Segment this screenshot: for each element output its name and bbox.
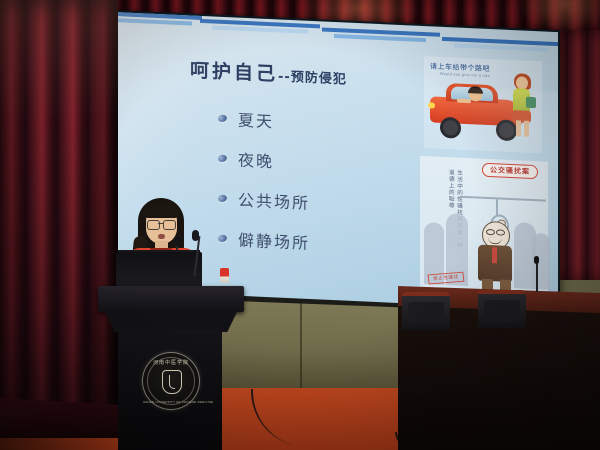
chair-cushion	[408, 302, 444, 324]
chair-cushion	[484, 300, 520, 322]
emblem-latin-text: HENAN UNIVERSITY OF CHINESE MEDICINE	[143, 400, 199, 404]
list-item: 夜晚	[218, 141, 310, 179]
bullet-dot-icon	[217, 233, 228, 242]
emblem-chinese-text: 河南中医学院	[143, 359, 199, 366]
man-tie-shape	[492, 247, 497, 263]
beverage-can[interactable]	[220, 268, 229, 283]
man-eye-right	[496, 229, 505, 235]
emblem-center-mark	[162, 370, 182, 394]
car-headlight-shape	[428, 102, 435, 108]
podium-microphone-icon	[192, 230, 199, 241]
bullet-dot-icon	[217, 193, 228, 202]
slide-bullet-list: 夏天 夜晚 公共场所 僻静场所	[218, 101, 310, 265]
illustration-car: 请上车给带个路吧 Would you give me a ride	[424, 56, 542, 153]
slide-title-main: 呵护自己	[190, 59, 278, 85]
presenter-glasses-left	[147, 220, 160, 230]
presenter-glasses-bridge	[158, 223, 163, 224]
bullet-label: 公共场所	[238, 187, 310, 214]
conference-chair[interactable]	[478, 290, 526, 328]
driver-arm-shape	[457, 99, 471, 104]
slide-title-sub: 预防侵犯	[291, 70, 347, 88]
bullet-label: 僻静场所	[238, 227, 310, 254]
podium-top-surface	[98, 286, 244, 312]
table-microphone-icon	[534, 256, 539, 264]
presenter-hair-fringe	[143, 202, 180, 218]
presenter-mouth	[158, 234, 165, 239]
list-item: 僻静场所	[218, 221, 310, 259]
panel-divider-2	[300, 304, 302, 400]
laptop[interactable]	[116, 252, 202, 288]
bullet-label: 夏天	[238, 107, 274, 133]
woman-bag-shape	[526, 97, 536, 108]
table-microphone-stem	[536, 262, 538, 292]
slide-title-dash: --	[278, 69, 291, 85]
bullet-label: 夜晚	[238, 147, 274, 173]
list-item: 夏天	[218, 101, 310, 139]
car-wheel-rear	[496, 119, 517, 141]
illustration-bus: 公交骚扰案 生活中的性骚扰其实是一种 道德上的耻辱 . . .	[420, 156, 548, 302]
curtain-left	[0, 0, 118, 432]
lecture-hall-scene: 呵护自己--预防侵犯 夏天 夜晚 公共场所 僻静场所	[0, 0, 600, 450]
woman-leg-right	[524, 121, 529, 137]
man-eye-left	[486, 229, 495, 235]
conference-chair[interactable]	[402, 292, 450, 330]
woman-leg-left	[516, 120, 521, 136]
list-item: 公共场所	[218, 181, 310, 219]
bullet-dot-icon	[217, 113, 228, 122]
podium-slant	[104, 310, 238, 332]
presenter-glasses-right	[163, 220, 176, 230]
illustration-bus-badge: 公交骚扰案	[482, 163, 538, 180]
handheld-microphone-icon	[174, 236, 181, 246]
bus-handrail-shape	[460, 196, 546, 202]
university-emblem: 河南中医学院 HENAN UNIVERSITY OF CHINESE MEDIC…	[142, 352, 200, 410]
bullet-dot-icon	[217, 153, 228, 162]
car-wheel-front	[440, 117, 461, 139]
